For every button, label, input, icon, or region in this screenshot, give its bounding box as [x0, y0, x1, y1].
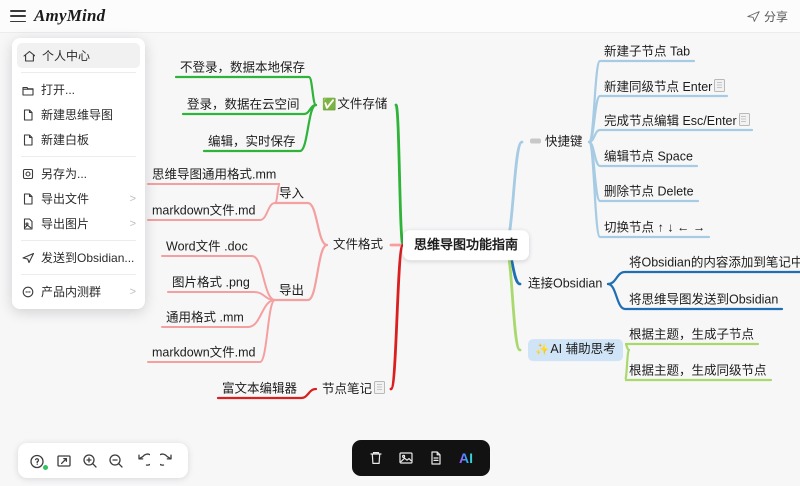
menu-item-label: 导出文件 — [41, 190, 124, 207]
mindmap-node[interactable]: 通用格式 .mm — [166, 311, 244, 326]
mindmap-node[interactable]: markdown文件.md — [152, 204, 256, 219]
note-icon — [714, 79, 725, 92]
ai-label: AI — [459, 450, 473, 466]
mindmap-root-node[interactable]: 思维导图功能指南 — [403, 230, 529, 260]
ai-button[interactable]: AI — [456, 448, 476, 468]
folder-icon — [22, 84, 34, 96]
note-icon — [374, 381, 385, 394]
mindmap-node[interactable]: 删除节点 Delete — [604, 185, 694, 200]
menu-item-label: 产品内测群 — [41, 283, 124, 300]
redo-button[interactable] — [156, 449, 180, 473]
connector — [625, 344, 758, 350]
menu-item-3[interactable]: 新建思维导图 — [12, 102, 145, 127]
chat-icon — [21, 286, 35, 298]
share-button[interactable]: 分享 — [747, 8, 788, 25]
node-label: 通用格式 .mm — [166, 311, 244, 325]
menu-item-12[interactable]: 产品内测群> — [12, 279, 145, 304]
mindmap-node[interactable]: 导入 — [279, 187, 304, 202]
mindmap-node[interactable]: 将Obsidian的内容添加到笔记中 — [629, 256, 800, 271]
send-icon — [747, 10, 760, 23]
image-button[interactable] — [396, 448, 416, 468]
menu-separator — [21, 156, 136, 157]
node-label: 根据主题，生成同级节点 — [629, 364, 767, 378]
home-icon — [23, 50, 35, 62]
node-label: 节点笔记 — [322, 382, 372, 396]
help-button[interactable] — [26, 449, 50, 473]
node-label: 导出 — [279, 284, 304, 298]
file-icon — [21, 193, 35, 205]
menu-separator — [21, 72, 136, 73]
mindmap-node[interactable]: 富文本编辑器 — [222, 382, 297, 397]
send-icon — [22, 252, 34, 264]
mindmap-node[interactable]: 节点笔记 — [322, 381, 385, 397]
menu-item-4[interactable]: 新建白板 — [12, 127, 145, 152]
file-icon — [22, 109, 34, 121]
image-file-icon — [21, 218, 35, 230]
mindmap-node[interactable]: markdown文件.md — [152, 346, 256, 361]
menu-item-2[interactable]: 打开... — [12, 77, 145, 102]
mindmap-node[interactable]: 导出 — [279, 284, 304, 299]
node-label: 文件存储 — [337, 97, 387, 111]
app-brand-title: AmyMind — [34, 6, 105, 26]
collapse-marker-icon — [530, 139, 541, 144]
menu-item-label: 新建白板 — [41, 131, 136, 148]
mindmap-node[interactable]: 根据主题，生成子节点 — [629, 328, 754, 343]
document-icon — [428, 450, 444, 466]
connector — [608, 272, 800, 284]
menu-item-0[interactable]: 个人中心 — [17, 43, 140, 68]
note-icon — [739, 113, 750, 126]
mindmap-node[interactable]: 思维导图通用格式.mm — [152, 168, 276, 183]
mindmap-node[interactable]: 登录，数据在云空间 — [187, 98, 300, 113]
node-label: 编辑节点 Space — [604, 150, 693, 164]
menu-item-label: 另存为... — [41, 165, 136, 182]
mindmap-node[interactable]: 连接Obsidian — [528, 277, 602, 292]
node-label: 将Obsidian的内容添加到笔记中 — [629, 256, 800, 270]
app-header: AmyMind 分享 — [0, 0, 800, 33]
trash-button[interactable] — [366, 448, 386, 468]
chevron-right-icon: > — [130, 218, 136, 230]
menu-separator — [21, 274, 136, 275]
connector — [148, 184, 280, 203]
send-icon — [21, 252, 35, 264]
file-icon — [21, 109, 35, 121]
menu-item-label: 发送到Obsidian... — [41, 249, 136, 266]
file-icon — [21, 134, 35, 146]
main-menu[interactable]: 个人中心打开...新建思维导图新建白板另存为...导出文件>导出图片>发送到Ob… — [12, 38, 145, 309]
view-toolbar[interactable] — [18, 443, 188, 478]
menu-item-8[interactable]: 导出图片> — [12, 211, 145, 236]
fit-screen-button[interactable] — [52, 449, 76, 473]
fit-screen-icon — [56, 453, 72, 469]
node-label: 导入 — [279, 187, 304, 201]
mindmap-node[interactable]: 图片格式 .png — [172, 276, 250, 291]
mindmap-node[interactable]: 不登录，数据本地保存 — [180, 61, 305, 76]
node-label: Word文件 .doc — [166, 240, 248, 254]
save-icon — [22, 168, 34, 180]
redo-icon — [160, 453, 176, 469]
document-button[interactable] — [426, 448, 446, 468]
connector — [168, 292, 275, 300]
zoom-out-button[interactable] — [104, 449, 128, 473]
mindmap-node[interactable]: 完成节点编辑 Esc/Enter — [604, 113, 750, 129]
menu-item-6[interactable]: 另存为... — [12, 161, 145, 186]
mindmap-node[interactable]: 快捷键 — [530, 135, 583, 150]
connector — [396, 105, 403, 245]
node-label: 完成节点编辑 Esc/Enter — [604, 114, 737, 128]
node-label: 根据主题，生成子节点 — [629, 328, 754, 342]
node-label: 富文本编辑器 — [222, 382, 297, 396]
zoom-in-icon — [82, 453, 98, 469]
trash-icon — [368, 450, 384, 466]
mindmap-node[interactable]: 编辑，实时保存 — [208, 135, 296, 150]
mindmap-node[interactable]: 根据主题，生成同级节点 — [629, 364, 767, 379]
chevron-right-icon: > — [130, 286, 136, 298]
undo-button[interactable] — [130, 449, 154, 473]
mindmap-node[interactable]: 新建子节点 Tab — [604, 45, 690, 60]
node-label: 编辑，实时保存 — [208, 135, 296, 149]
menu-item-7[interactable]: 导出文件> — [12, 186, 145, 211]
node-label: 删除节点 Delete — [604, 185, 694, 199]
connector — [275, 203, 327, 245]
chat-icon — [22, 286, 34, 298]
node-label: 连接Obsidian — [528, 277, 602, 291]
image-file-icon — [22, 218, 34, 230]
mindmap-node[interactable]: 文件格式 — [333, 238, 383, 253]
undo-icon — [134, 453, 150, 469]
node-label: 不登录，数据本地保存 — [180, 61, 305, 75]
menu-item-label: 个人中心 — [42, 47, 135, 64]
mindmap-node[interactable]: 编辑节点 Space — [604, 150, 693, 165]
node-label: 思维导图功能指南 — [414, 237, 518, 252]
node-label: 快捷键 — [545, 135, 583, 149]
share-label: 分享 — [764, 8, 788, 25]
connector — [589, 130, 752, 142]
mindmap-node[interactable]: ✅文件存储 — [322, 97, 387, 113]
node-label: markdown文件.md — [152, 346, 256, 360]
file-icon — [22, 134, 34, 146]
mindmap-node[interactable]: 新建同级节点 Enter — [604, 79, 725, 95]
node-label: 将思维导图发送到Obsidian — [629, 293, 778, 307]
menu-item-label: 新建思维导图 — [41, 106, 136, 123]
zoom-in-button[interactable] — [78, 449, 102, 473]
node-action-toolbar[interactable]: AI — [352, 440, 490, 476]
node-emoji: ✨ — [535, 344, 549, 356]
home-icon — [22, 50, 36, 62]
node-label: 思维导图通用格式.mm — [152, 168, 276, 182]
menu-item-10[interactable]: 发送到Obsidian... — [12, 245, 145, 270]
node-label: 切换节点 ↑ ↓ ← → — [604, 221, 705, 235]
node-label: 新建子节点 Tab — [604, 45, 690, 59]
menu-item-label: 导出图片 — [41, 215, 124, 232]
connector — [391, 245, 403, 389]
hamburger-icon[interactable] — [10, 10, 26, 22]
menu-item-label: 打开... — [41, 81, 136, 98]
node-label: 文件格式 — [333, 238, 383, 252]
chevron-right-icon: > — [130, 193, 136, 205]
mindmap-node[interactable]: 将思维导图发送到Obsidian — [629, 293, 778, 308]
mindmap-node[interactable]: ✨AI 辅助思考 — [528, 339, 623, 361]
folder-icon — [21, 84, 35, 96]
file-icon — [22, 193, 34, 205]
node-emoji: ✅ — [322, 99, 336, 111]
node-label: 图片格式 .png — [172, 276, 250, 290]
menu-separator — [21, 240, 136, 241]
mindmap-node[interactable]: Word文件 .doc — [166, 240, 248, 255]
node-label: 登录，数据在云空间 — [187, 98, 300, 112]
zoom-out-icon — [108, 453, 124, 469]
image-icon — [398, 450, 414, 466]
notification-dot — [43, 465, 48, 470]
mindmap-node[interactable]: 切换节点 ↑ ↓ ← → — [604, 221, 705, 236]
save-icon — [21, 168, 35, 180]
node-label: 新建同级节点 Enter — [604, 80, 712, 94]
node-label: markdown文件.md — [152, 204, 256, 218]
node-label: AI 辅助思考 — [550, 342, 615, 356]
